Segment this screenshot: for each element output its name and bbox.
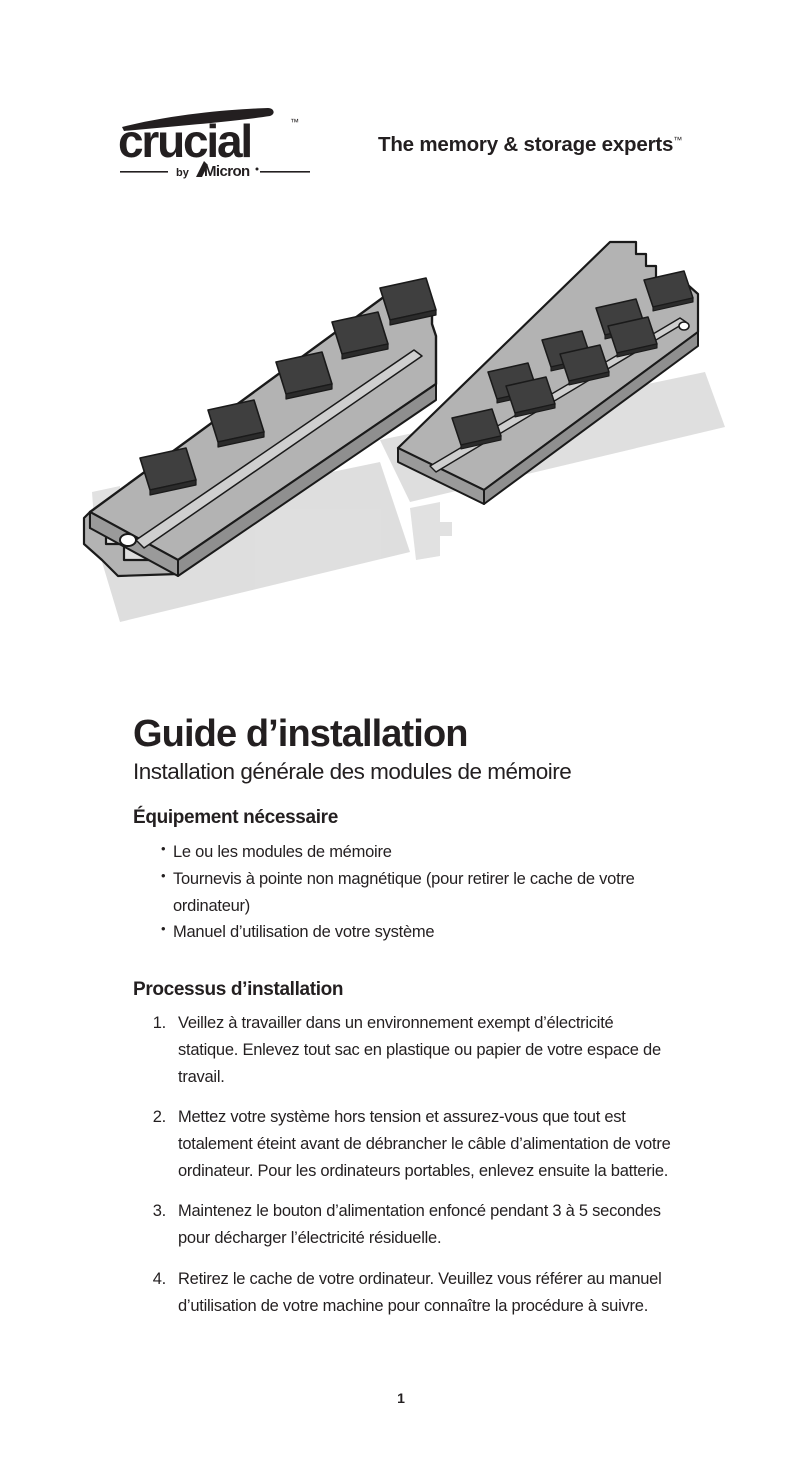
list-item: 1.Veillez à travailler dans un environne… [144, 1010, 673, 1090]
brand-tagline-text: The memory & storage experts [378, 133, 673, 156]
document-content: Guide d’installation Installation généra… [133, 714, 673, 1319]
memory-module-illustration [80, 222, 730, 662]
crucial-logo: crucial ™ by Micron [118, 105, 318, 185]
step-text: Veillez à travailler dans un environneme… [178, 1014, 661, 1085]
crucial-logo-icon: crucial ™ by Micron [118, 105, 318, 185]
page-title: Guide d’installation [133, 714, 673, 754]
step-text: Mettez votre système hors tension et ass… [178, 1108, 671, 1179]
svg-text:by: by [176, 167, 190, 179]
list-item: Le ou les modules de mémoire [161, 839, 673, 866]
list-item: 2.Mettez votre système hors tension et a… [144, 1104, 673, 1184]
brand-tagline-tm: ™ [673, 135, 682, 145]
brand-tagline: The memory & storage experts™ [378, 133, 682, 157]
step-number: 4. [144, 1266, 166, 1293]
list-item: 4.Retirez le cache de votre ordinateur. … [144, 1266, 673, 1319]
step-number: 2. [144, 1104, 166, 1131]
step-text: Maintenez le bouton d’alimentation enfon… [178, 1202, 661, 1247]
step-text: Retirez le cache de votre ordinateur. Ve… [178, 1270, 662, 1315]
page-header: crucial ™ by Micron The memory & storage… [0, 0, 802, 200]
svg-text:™: ™ [290, 117, 299, 127]
page-subtitle: Installation générale des modules de mém… [133, 758, 673, 785]
step-number: 1. [144, 1010, 166, 1037]
memory-module-icon [80, 222, 730, 662]
equipment-heading: Équipement nécessaire [133, 807, 673, 829]
process-heading: Processus d’installation [133, 979, 673, 1001]
list-item: Tournevis à pointe non magnétique (pour … [161, 866, 673, 919]
list-item: Manuel d’utilisation de votre système [161, 919, 673, 946]
svg-text:Micron: Micron [204, 163, 250, 180]
page-number: 1 [0, 1390, 802, 1406]
svg-text:crucial: crucial [118, 115, 251, 167]
step-number: 3. [144, 1198, 166, 1225]
process-steps-list: 1.Veillez à travailler dans un environne… [133, 1010, 673, 1319]
list-item: 3.Maintenez le bouton d’alimentation enf… [144, 1198, 673, 1251]
equipment-list: Le ou les modules de mémoire Tournevis à… [133, 839, 673, 946]
